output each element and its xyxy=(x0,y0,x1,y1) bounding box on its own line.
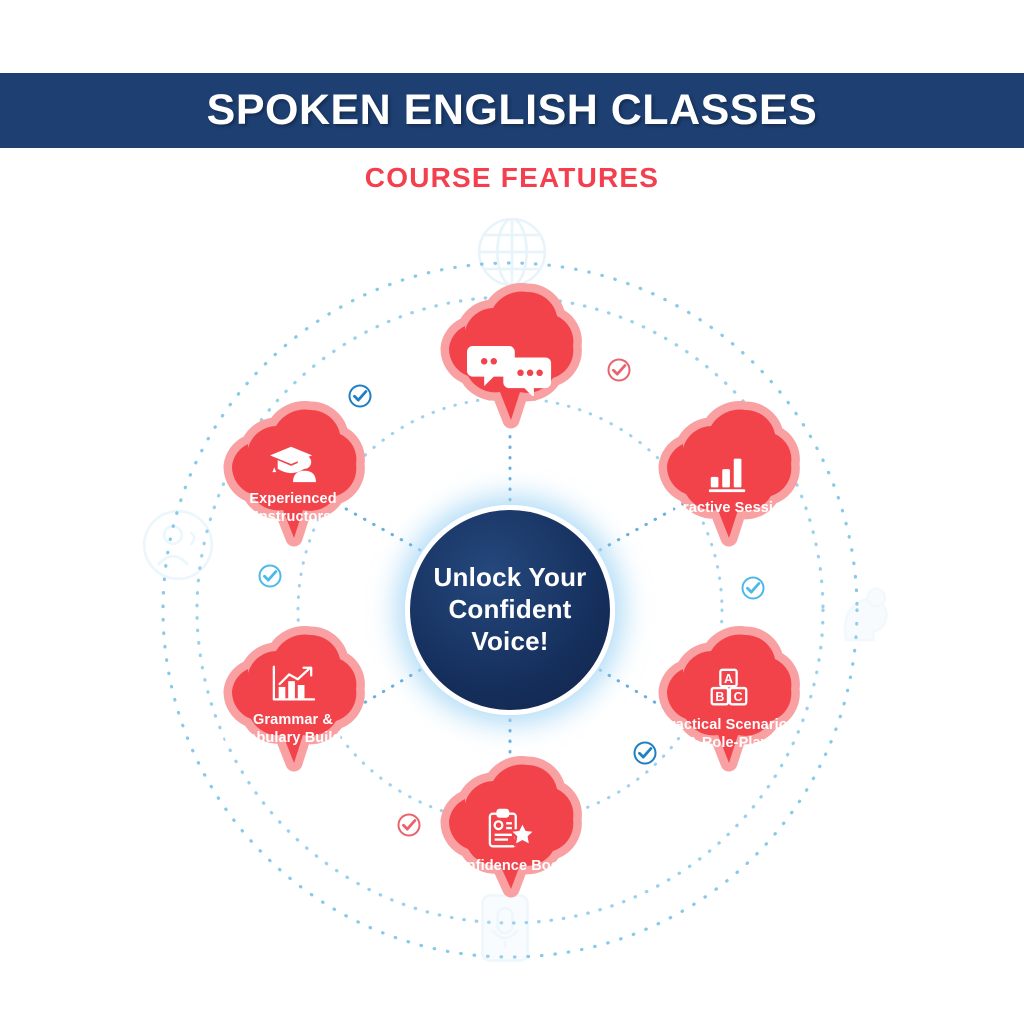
cloud-bubble-shape xyxy=(643,635,813,803)
center-line-2: Confident xyxy=(434,594,587,626)
cloud-bubble-shape xyxy=(425,765,595,933)
infographic-canvas: SPOKEN ENGLISH CLASSES COURSE FEATURES xyxy=(0,0,1024,1024)
check-badge-lower-right xyxy=(632,740,658,766)
features-diagram: Unlock Your Confident Voice! xyxy=(0,200,1024,1024)
feature-bubble-practical-scenarios[interactable]: A B C Practical Scenarios & Role-Play xyxy=(643,635,813,803)
center-hub-text: Unlock Your Confident Voice! xyxy=(434,562,587,657)
center-line-3: Voice! xyxy=(434,626,587,658)
check-badge-upper-right xyxy=(606,357,632,383)
page-subtitle: COURSE FEATURES xyxy=(0,162,1024,194)
check-badge-lower-left xyxy=(396,812,422,838)
check-badge-right xyxy=(740,575,766,601)
cloud-bubble-shape xyxy=(208,635,378,803)
cloud-bubble-shape xyxy=(643,410,813,578)
feature-bubble-experienced-instructors[interactable]: Experienced Instructors xyxy=(208,410,378,578)
feature-bubble-conversation-practice[interactable] xyxy=(425,292,595,460)
flexed-arm-icon xyxy=(826,575,906,655)
header-bar: SPOKEN ENGLISH CLASSES xyxy=(0,73,1024,148)
check-badge-left xyxy=(257,563,283,589)
page-title: SPOKEN ENGLISH CLASSES xyxy=(207,86,818,135)
center-hub[interactable]: Unlock Your Confident Voice! xyxy=(405,505,615,715)
feature-bubble-confidence-boost[interactable]: Confidence Boost xyxy=(425,765,595,933)
feature-bubble-grammar-vocabulary[interactable]: Grammar & Vocabulary Building xyxy=(208,635,378,803)
center-line-1: Unlock Your xyxy=(434,562,587,594)
person-speaking-icon xyxy=(138,505,218,585)
cloud-bubble-shape xyxy=(425,292,595,460)
feature-bubble-interactive-sessions[interactable]: Interactive Sessions xyxy=(643,410,813,578)
globe-icon xyxy=(473,213,551,291)
cloud-bubble-shape xyxy=(208,410,378,578)
check-badge-upper-left xyxy=(347,383,373,409)
